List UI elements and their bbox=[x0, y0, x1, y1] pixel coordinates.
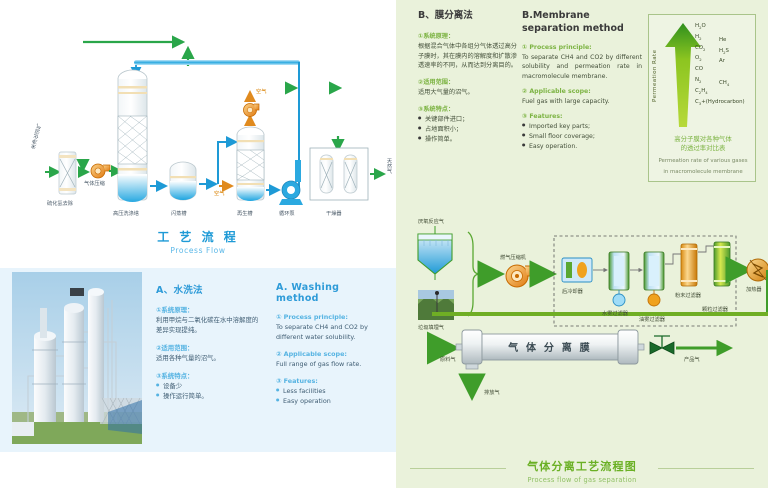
gas-primary: CO2 bbox=[695, 45, 705, 52]
section-body: 适用大气量的沼气。 bbox=[418, 88, 518, 98]
washing-cn-section-features: ③系统特点： 设备少 操作运行简单。 bbox=[156, 371, 264, 402]
section-heading: ③系统特点： bbox=[418, 104, 518, 113]
list-item: 关键部件进口； bbox=[418, 115, 518, 125]
section-heading: ② Applicable scope: bbox=[276, 350, 384, 358]
label-dryer: 干燥器 bbox=[326, 210, 342, 217]
label-desulfurizer: 硫化氢去除 bbox=[47, 200, 73, 207]
right-panel: B、膜分离法 ①系统原理： 根据混合气体中各组分气体透过高分子膜时，其在膜内的溶… bbox=[396, 0, 768, 488]
gas-primary: CO bbox=[695, 66, 703, 72]
process-flow-diagram: 未净化沼气 硫化氢去除 气体压缩 高压洗涤塔 闪蒸槽 空气 空气 再生槽 循环泵… bbox=[0, 0, 396, 256]
label-powder-filter: 粉末过滤器 bbox=[675, 292, 701, 299]
list-item: Small floor coverage; bbox=[522, 132, 642, 142]
membrane-cn-section-features: ③系统特点： 关键部件进口； 占地面积小； 操作简单。 bbox=[418, 104, 518, 145]
washing-en-section-features: ③ Features: Less facilities Easy operati… bbox=[276, 377, 384, 407]
gas-secondary: He bbox=[719, 37, 726, 43]
section-body: 适用各种气量的沼气。 bbox=[156, 354, 264, 364]
label-oil-mist-filter: 油雾过滤器 bbox=[639, 316, 665, 323]
caption-en-1: Permeation rate of various gases bbox=[652, 158, 754, 166]
label-water-mist-filter: 水雾过滤器 bbox=[602, 310, 628, 317]
gas-row: C2H4 bbox=[695, 88, 755, 99]
poster-page: 未净化沼气 硫化氢去除 气体压缩 高压洗涤塔 闪蒸槽 空气 空气 再生槽 循环泵… bbox=[0, 0, 768, 488]
label-vent-gas: 排放气 bbox=[484, 389, 500, 396]
membrane-cn-section-principle: ①系统原理： 根据混合气体中各组分气体透过高分子膜时，其在膜内的溶解度和扩散渗透… bbox=[418, 31, 518, 71]
process-flow-svg bbox=[0, 0, 396, 256]
process-flow-title-en: Process Flow bbox=[0, 246, 396, 255]
section-heading: ② Applicable scope: bbox=[522, 88, 642, 95]
section-heading: ①系统原理： bbox=[156, 305, 264, 314]
section-heading: ① Process principle: bbox=[522, 44, 642, 51]
list-item: Easy operation bbox=[276, 397, 384, 407]
list-item: 占地面积小； bbox=[418, 125, 518, 135]
membrane-method-cn: B、膜分离法 ①系统原理： 根据混合气体中各组分气体透过高分子膜时，其在膜内的溶… bbox=[418, 10, 518, 151]
membrane-en-section-features: ③ Features: Imported key parts; Small fl… bbox=[522, 113, 642, 152]
heater-icon bbox=[747, 259, 768, 281]
gas-row: CO bbox=[695, 66, 755, 77]
washing-cn-section-principle: ①系统原理： 利用甲烷与二氧化碳在水中溶解度的差异实现提纯。 bbox=[156, 305, 264, 336]
washing-heading-en: A. Washing method bbox=[276, 282, 384, 304]
gas-row: CO2H2S bbox=[695, 45, 755, 56]
section-body: 利用甲烷与二氧化碳在水中溶解度的差异实现提纯。 bbox=[156, 316, 264, 336]
plant-photo-svg bbox=[12, 272, 142, 444]
washing-plant-photo bbox=[12, 272, 142, 444]
section-heading: ③ Features: bbox=[522, 113, 642, 120]
gas-row: C3+(Hydrocarbon) bbox=[695, 99, 755, 110]
gas-secondary: CH4 bbox=[719, 80, 729, 87]
membrane-method-en: B.Membrane separation method ① Process p… bbox=[522, 10, 642, 158]
section-body: Full range of gas flow rate. bbox=[276, 360, 384, 370]
membrane-en-section-principle: ① Process principle: To separate CH4 and… bbox=[522, 44, 642, 82]
membrane-en-section-scope: ② Applicable scope: Fuel gas with large … bbox=[522, 88, 642, 107]
washing-method-cn: A、水洗法 ①系统原理： 利用甲烷与二氧化碳在水中溶解度的差异实现提纯。 ②适用… bbox=[156, 282, 264, 414]
label-flash-tank: 闪蒸槽 bbox=[171, 210, 187, 217]
caption-en-2: in macromolecule membrane bbox=[652, 169, 754, 177]
title-rule-left bbox=[410, 468, 506, 469]
title-rule-right bbox=[658, 468, 754, 469]
label-circulation-pump: 循环泵 bbox=[279, 210, 295, 217]
washing-cn-section-scope: ②适用范围： 适用各种气量的沼气。 bbox=[156, 343, 264, 364]
gas-primary: O2 bbox=[695, 55, 702, 62]
section-heading: ③ Features: bbox=[276, 377, 384, 385]
gas-primary: C3+(Hydrocarbon) bbox=[695, 99, 745, 106]
list-item: Less facilities bbox=[276, 387, 384, 397]
gas-row: H2He bbox=[695, 34, 755, 45]
label-air-inlet: 空气 bbox=[214, 190, 224, 197]
label-feed-gas: 原料气 bbox=[440, 356, 456, 363]
label-high-pressure-wash-tower: 高压洗涤塔 bbox=[113, 210, 139, 217]
gas-secondary: Ar bbox=[719, 58, 725, 64]
label-landfill-gas: 垃圾填埋气 bbox=[418, 324, 444, 331]
label-product-gas: 天然气 bbox=[386, 158, 393, 174]
list-item: 设备少 bbox=[156, 382, 264, 392]
label-heater: 加热器 bbox=[746, 286, 762, 293]
gas-row: O2Ar bbox=[695, 55, 755, 66]
valve-icon bbox=[650, 336, 674, 354]
label-gas-compressor: 气体压缩 bbox=[84, 180, 105, 187]
label-regeneration-tank: 再生槽 bbox=[237, 210, 253, 217]
section-heading: ②适用范围： bbox=[418, 77, 518, 86]
section-body: To separate CH4 and CO2 by different wat… bbox=[276, 323, 384, 343]
label-anaerobic-reactor: 厌氧反应气 bbox=[418, 218, 444, 225]
washing-heading-cn: A、水洗法 bbox=[156, 282, 264, 296]
label-air-outlet: 空气 bbox=[256, 88, 266, 95]
gas-primary: N2 bbox=[695, 77, 701, 84]
gas-separation-title: 气体分离工艺流程图 Process flow of gas separation bbox=[396, 458, 768, 484]
gas-species-list: H2O H2He CO2H2S O2Ar CO N2CH4 C2H4 C3+(H… bbox=[695, 23, 755, 109]
list-item: Imported key parts; bbox=[522, 122, 642, 132]
section-body: To separate CH4 and CO2 by different sol… bbox=[522, 53, 642, 82]
process-flow-title: 工 艺 流 程 Process Flow bbox=[0, 228, 396, 255]
process-flow-title-cn: 工 艺 流 程 bbox=[0, 228, 396, 245]
section-heading: ②适用范围： bbox=[156, 343, 264, 352]
permeation-rate-chart: Permeation Rate H2O H2He CO2H2S bbox=[648, 14, 756, 182]
membrane-cn-section-scope: ②适用范围： 适用大气量的沼气。 bbox=[418, 77, 518, 98]
label-product-gas-2: 产品气 bbox=[684, 356, 700, 363]
gas-primary: H2O bbox=[695, 23, 706, 30]
washing-en-section-scope: ② Applicable scope: Full range of gas fl… bbox=[276, 350, 384, 370]
gas-separation-title-cn: 气体分离工艺流程图 bbox=[396, 458, 768, 474]
list-item: 操作运行简单。 bbox=[156, 392, 264, 402]
caption-cn-1: 高分子膜对各种气体 bbox=[652, 135, 754, 144]
membrane-heading-en: B.Membrane separation method bbox=[522, 10, 642, 36]
washing-method-en: A. Washing method ① Process principle: T… bbox=[276, 282, 384, 414]
gas-row: N2CH4 bbox=[695, 77, 755, 88]
permeation-caption: 高分子膜对各种气体 的透过率对比表 Permeation rate of var… bbox=[652, 135, 754, 177]
left-panel: 未净化沼气 硫化氢去除 气体压缩 高压洗涤塔 闪蒸槽 空气 空气 再生槽 循环泵… bbox=[0, 0, 396, 488]
membrane-heading-cn: B、膜分离法 bbox=[418, 10, 518, 23]
gas-primary: C2H4 bbox=[695, 88, 708, 95]
washing-en-section-principle: ① Process principle: To separate CH4 and… bbox=[276, 313, 384, 343]
gas-primary: H2 bbox=[695, 34, 701, 41]
washing-method-columns: A、水洗法 ①系统原理： 利用甲烷与二氧化碳在水中溶解度的差异实现提纯。 ②适用… bbox=[156, 282, 386, 414]
section-heading: ①系统原理： bbox=[418, 31, 518, 40]
section-body: Fuel gas with large capacity. bbox=[522, 97, 642, 107]
caption-cn-2: 的透过率对比表 bbox=[652, 144, 754, 153]
section-body: 根据混合气体中各组分气体透过高分子膜时，其在膜内的溶解度和扩散渗透速率的不同，从… bbox=[418, 42, 518, 71]
gas-separation-diagram: 厌氧反应气 垃圾填埋气 燃气压缩机 后冷却器 水雾过滤器 油雾过滤器 粉末过滤器… bbox=[396, 196, 768, 488]
membrane-method-section: B、膜分离法 ①系统原理： 根据混合气体中各组分气体透过高分子膜时，其在膜内的溶… bbox=[396, 0, 768, 196]
section-heading: ③系统特点： bbox=[156, 371, 264, 380]
label-gas-compressor-2: 燃气压缩机 bbox=[500, 254, 526, 261]
list-item: Easy operation. bbox=[522, 142, 642, 152]
list-item: 操作简单。 bbox=[418, 135, 518, 145]
gas-secondary: H2S bbox=[719, 48, 729, 55]
gas-row: H2O bbox=[695, 23, 755, 34]
section-heading: ① Process principle: bbox=[276, 313, 384, 321]
label-particle-filter: 颗粒过滤器 bbox=[702, 306, 728, 313]
label-after-cooler: 后冷却器 bbox=[562, 288, 583, 295]
gas-separation-title-en: Process flow of gas separation bbox=[396, 476, 768, 484]
label-membrane-module: 气 体 分 离 膜 bbox=[494, 339, 606, 354]
